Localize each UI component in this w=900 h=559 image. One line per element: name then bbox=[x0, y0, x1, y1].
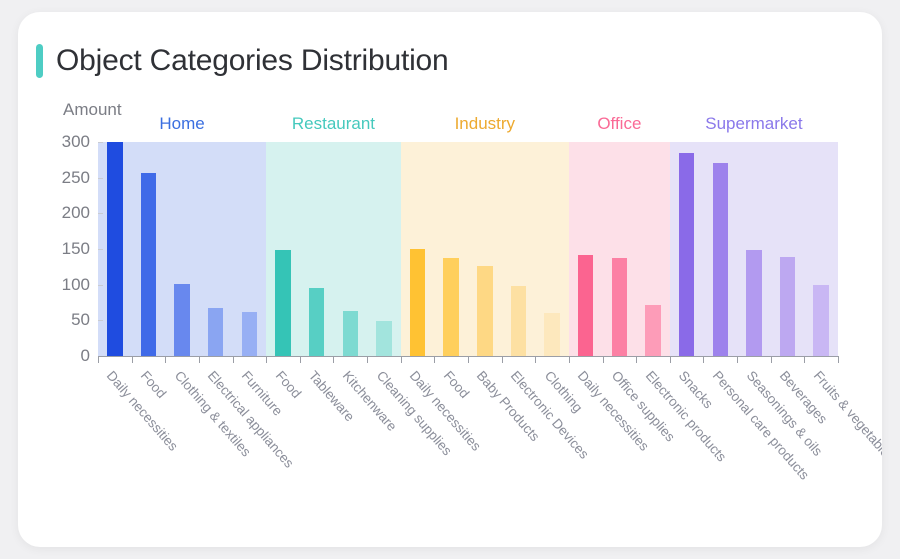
bar-chart: Amount 050100150200250300 HomeRestaurant… bbox=[18, 12, 882, 547]
bar[interactable] bbox=[242, 312, 257, 356]
x-axis-tick-mark bbox=[636, 356, 637, 363]
bar[interactable] bbox=[309, 288, 324, 356]
x-axis-tick-mark bbox=[434, 356, 435, 363]
bar[interactable] bbox=[107, 142, 122, 356]
chart-card: Object Categories Distribution Amount 05… bbox=[18, 12, 882, 547]
group-label-supermarket: Supermarket bbox=[705, 114, 802, 134]
x-axis-tick-mark bbox=[502, 356, 503, 363]
y-axis-tick-mark bbox=[98, 249, 103, 250]
bar[interactable] bbox=[713, 163, 728, 356]
group-label-office: Office bbox=[597, 114, 641, 134]
bar[interactable] bbox=[477, 266, 492, 356]
bar[interactable] bbox=[645, 305, 660, 356]
bar[interactable] bbox=[410, 249, 425, 356]
x-axis-tick-mark bbox=[132, 356, 133, 363]
x-axis-tick-mark bbox=[838, 356, 839, 363]
x-axis-tick-mark bbox=[333, 356, 334, 363]
y-axis-tick-label: 50 bbox=[71, 310, 90, 330]
bar[interactable] bbox=[612, 258, 627, 356]
group-label-home: Home bbox=[159, 114, 204, 134]
x-axis-tick-mark bbox=[703, 356, 704, 363]
y-axis-ticks: 050100150200250300 bbox=[18, 12, 90, 547]
x-axis-tick-mark bbox=[737, 356, 738, 363]
y-axis-tick-label: 150 bbox=[62, 239, 90, 259]
bar[interactable] bbox=[511, 286, 526, 356]
plot-area: HomeRestaurantIndustryOfficeSupermarket bbox=[98, 142, 838, 356]
x-axis-tick-mark bbox=[468, 356, 469, 363]
bar[interactable] bbox=[343, 311, 358, 356]
bar[interactable] bbox=[174, 284, 189, 356]
x-axis-tick-mark bbox=[535, 356, 536, 363]
x-axis-tick-mark bbox=[165, 356, 166, 363]
y-axis-tick-mark bbox=[98, 285, 103, 286]
bar[interactable] bbox=[443, 258, 458, 356]
x-axis-tick-mark bbox=[804, 356, 805, 363]
x-axis-tick-mark bbox=[300, 356, 301, 363]
y-axis-tick-mark bbox=[98, 213, 103, 214]
x-axis-tick-mark bbox=[199, 356, 200, 363]
x-axis-tick-label: Food bbox=[272, 368, 304, 401]
y-axis-tick-label: 200 bbox=[62, 203, 90, 223]
y-axis-tick-mark bbox=[98, 142, 103, 143]
group-label-restaurant: Restaurant bbox=[292, 114, 375, 134]
bar[interactable] bbox=[679, 153, 694, 356]
x-axis-tick-mark bbox=[771, 356, 772, 363]
bar[interactable] bbox=[780, 257, 795, 356]
y-axis-tick-label: 300 bbox=[62, 132, 90, 152]
x-axis-tick-mark bbox=[367, 356, 368, 363]
bar[interactable] bbox=[746, 250, 761, 356]
y-axis-tick-label: 0 bbox=[81, 346, 90, 366]
y-axis-tick-mark bbox=[98, 178, 103, 179]
x-axis-tick-label: Food bbox=[138, 368, 170, 401]
bar[interactable] bbox=[544, 313, 559, 357]
bar[interactable] bbox=[275, 250, 290, 356]
bar[interactable] bbox=[208, 308, 223, 356]
bar[interactable] bbox=[376, 321, 391, 356]
y-axis-tick-label: 100 bbox=[62, 275, 90, 295]
bar[interactable] bbox=[578, 255, 593, 356]
bar[interactable] bbox=[141, 173, 156, 356]
x-axis-tick-label: Food bbox=[441, 368, 473, 401]
y-axis-tick-label: 250 bbox=[62, 168, 90, 188]
x-axis-tick-mark bbox=[266, 356, 267, 363]
x-axis-tick-mark bbox=[98, 356, 99, 363]
x-axis-tick-mark bbox=[603, 356, 604, 363]
y-axis-tick-mark bbox=[98, 320, 103, 321]
x-axis-tick-mark bbox=[569, 356, 570, 363]
x-axis-tick-mark bbox=[401, 356, 402, 363]
x-axis-tick-mark bbox=[233, 356, 234, 363]
group-label-industry: Industry bbox=[455, 114, 515, 134]
bar[interactable] bbox=[813, 285, 828, 356]
x-axis-tick-mark bbox=[670, 356, 671, 363]
